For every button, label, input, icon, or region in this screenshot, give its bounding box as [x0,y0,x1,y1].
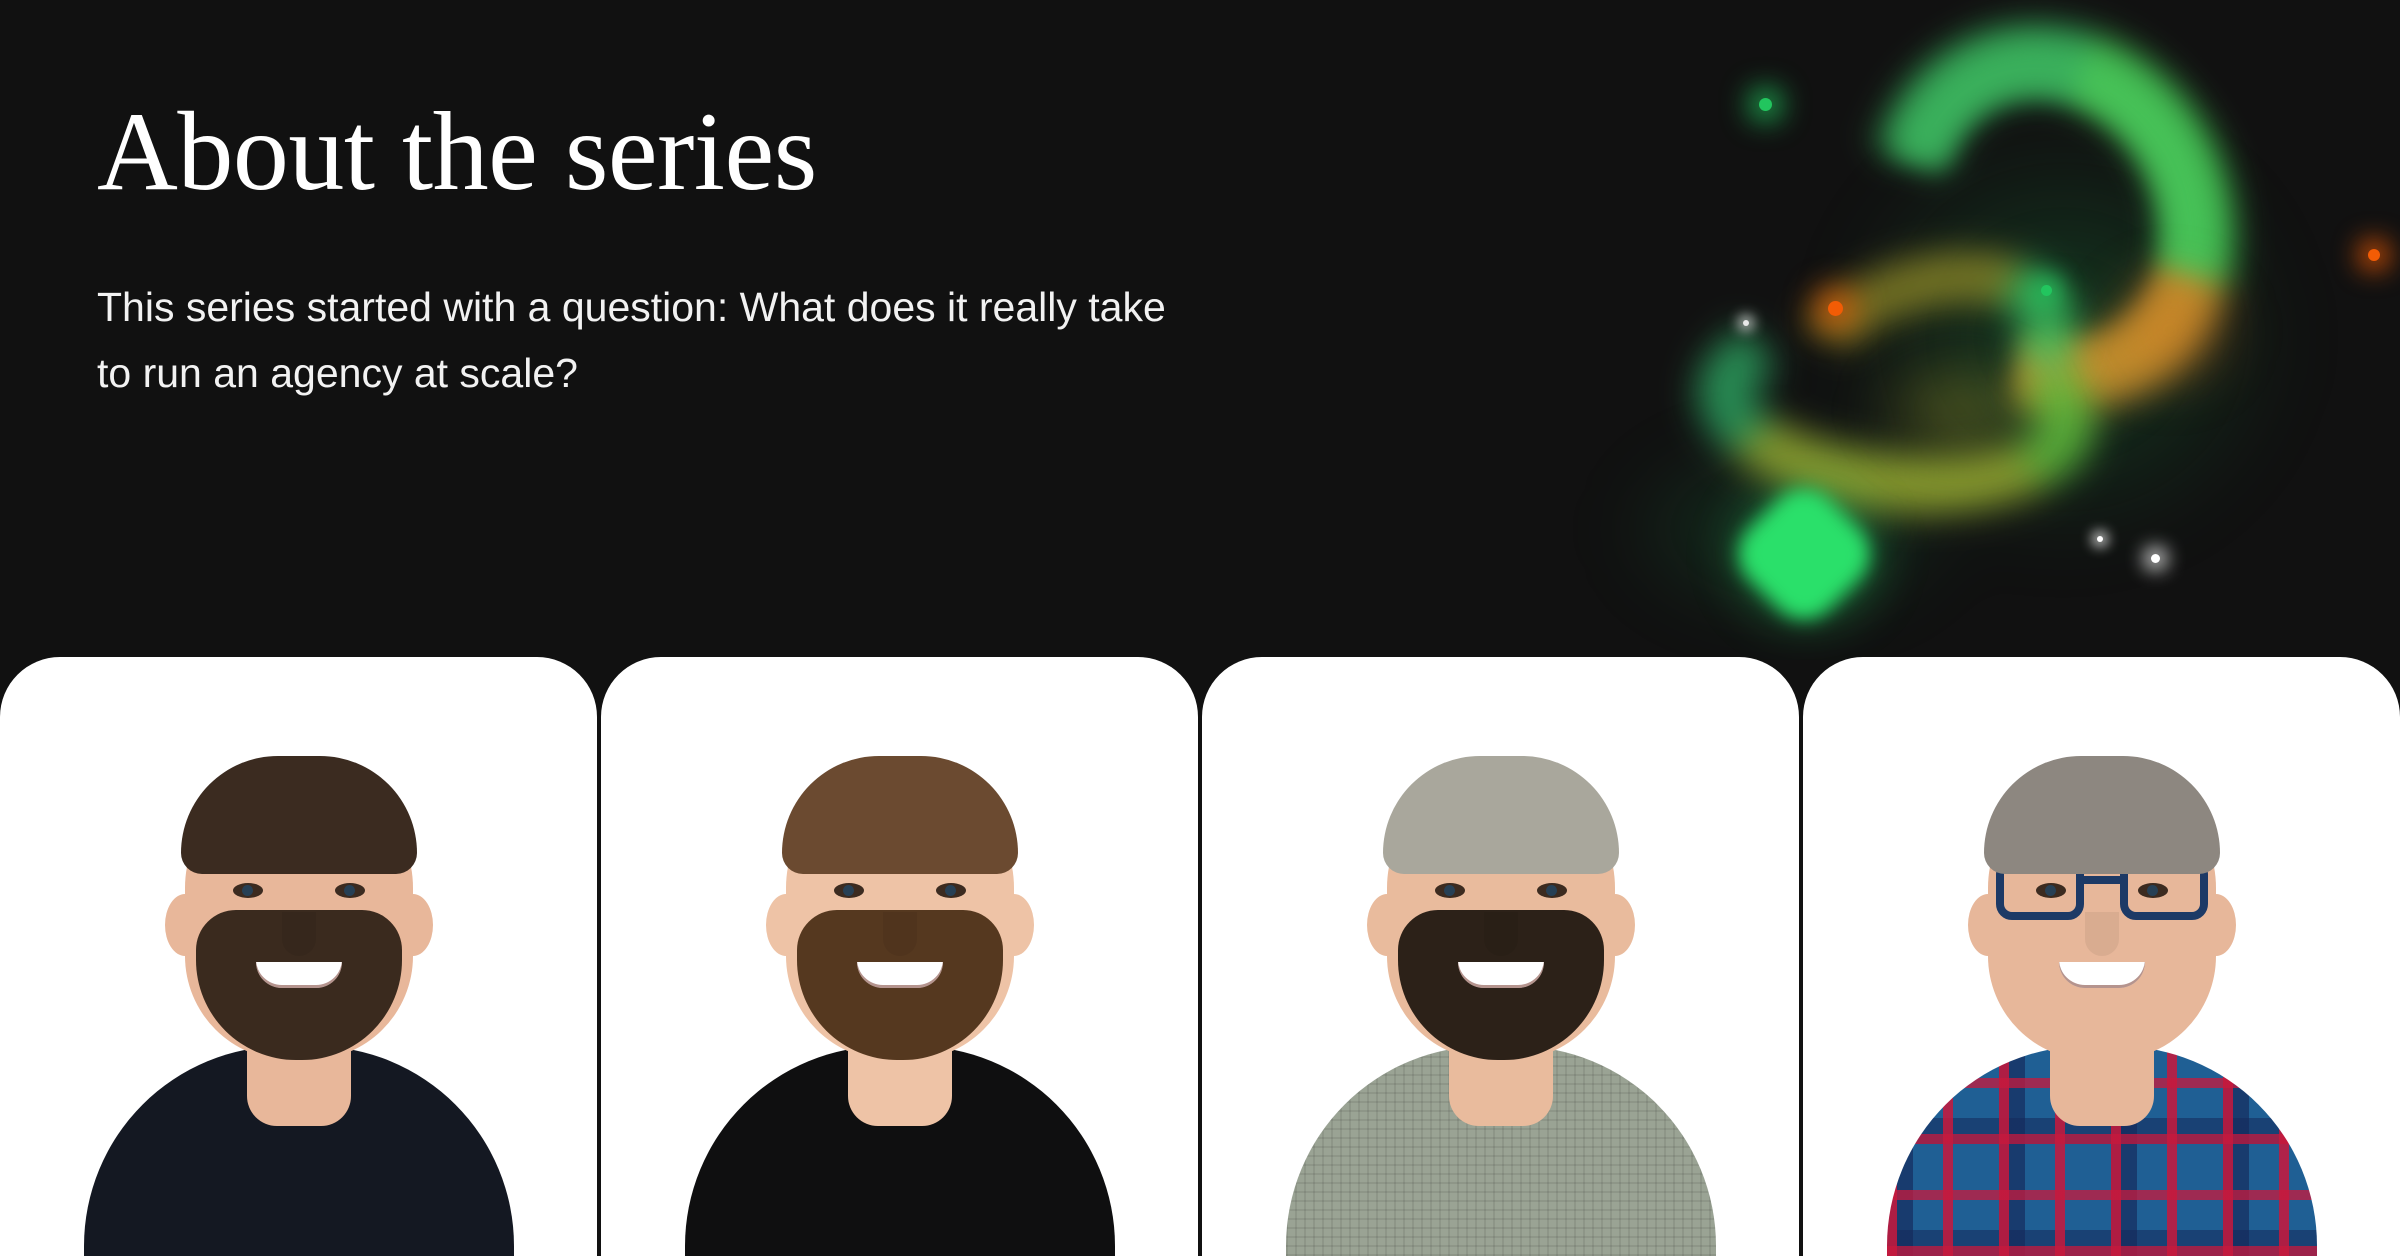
question-mark-amber-bloom [2060,230,2280,430]
question-mark-dot-glow [1678,430,1938,660]
hair [181,756,417,874]
question-mark-hook [1799,0,2305,479]
particle-white-2 [2097,536,2103,542]
question-mark-yellow-bloom [1830,330,2090,490]
about-the-series-section: About the series This series started wit… [0,0,2400,1256]
hero-body-text: This series started with a question: Wha… [97,274,1207,407]
speaker-portrait-2 [601,657,1198,1256]
hair [1984,756,2220,874]
speaker-card-2[interactable] [601,657,1198,1256]
eye-right [335,883,365,898]
mouth [256,962,342,988]
eye-left [1435,883,1465,898]
nose [1484,912,1518,956]
eye-right [936,883,966,898]
page-title: About the series [97,96,1297,208]
particle-green-1 [1759,98,1772,111]
question-mark-dot [1725,475,1883,633]
hero-copy: About the series This series started wit… [97,96,1297,407]
speaker-card-3[interactable] [1202,657,1799,1256]
hero-panel: About the series This series started wit… [0,0,2400,660]
particle-green-2 [2041,285,2052,296]
speaker-card-1[interactable] [0,657,597,1256]
question-mark-hook-core [1826,0,2278,452]
question-mark-stem-upper [1760,218,2101,483]
particle-orange-1 [1828,301,1843,316]
nose [883,912,917,956]
particle-orange-2 [2368,249,2380,261]
question-mark-halo [1530,30,2390,660]
speaker-portrait-4 [1803,657,2400,1256]
eye-left [233,883,263,898]
nose [282,912,316,956]
hair [782,756,1018,874]
speaker-card-row [0,657,2400,1256]
mouth [857,962,943,988]
hair [1383,756,1619,874]
question-mark-stem [1686,282,2106,533]
speaker-portrait-1 [0,657,597,1256]
particle-white-1 [1743,320,1749,326]
mouth [2059,962,2145,988]
eye-right [1537,883,1567,898]
particle-white-3 [2151,554,2160,563]
speaker-portrait-3 [1202,657,1799,1256]
mouth [1458,962,1544,988]
question-mark-artwork [1500,0,2400,660]
speaker-card-4[interactable] [1803,657,2400,1256]
eye-left [834,883,864,898]
